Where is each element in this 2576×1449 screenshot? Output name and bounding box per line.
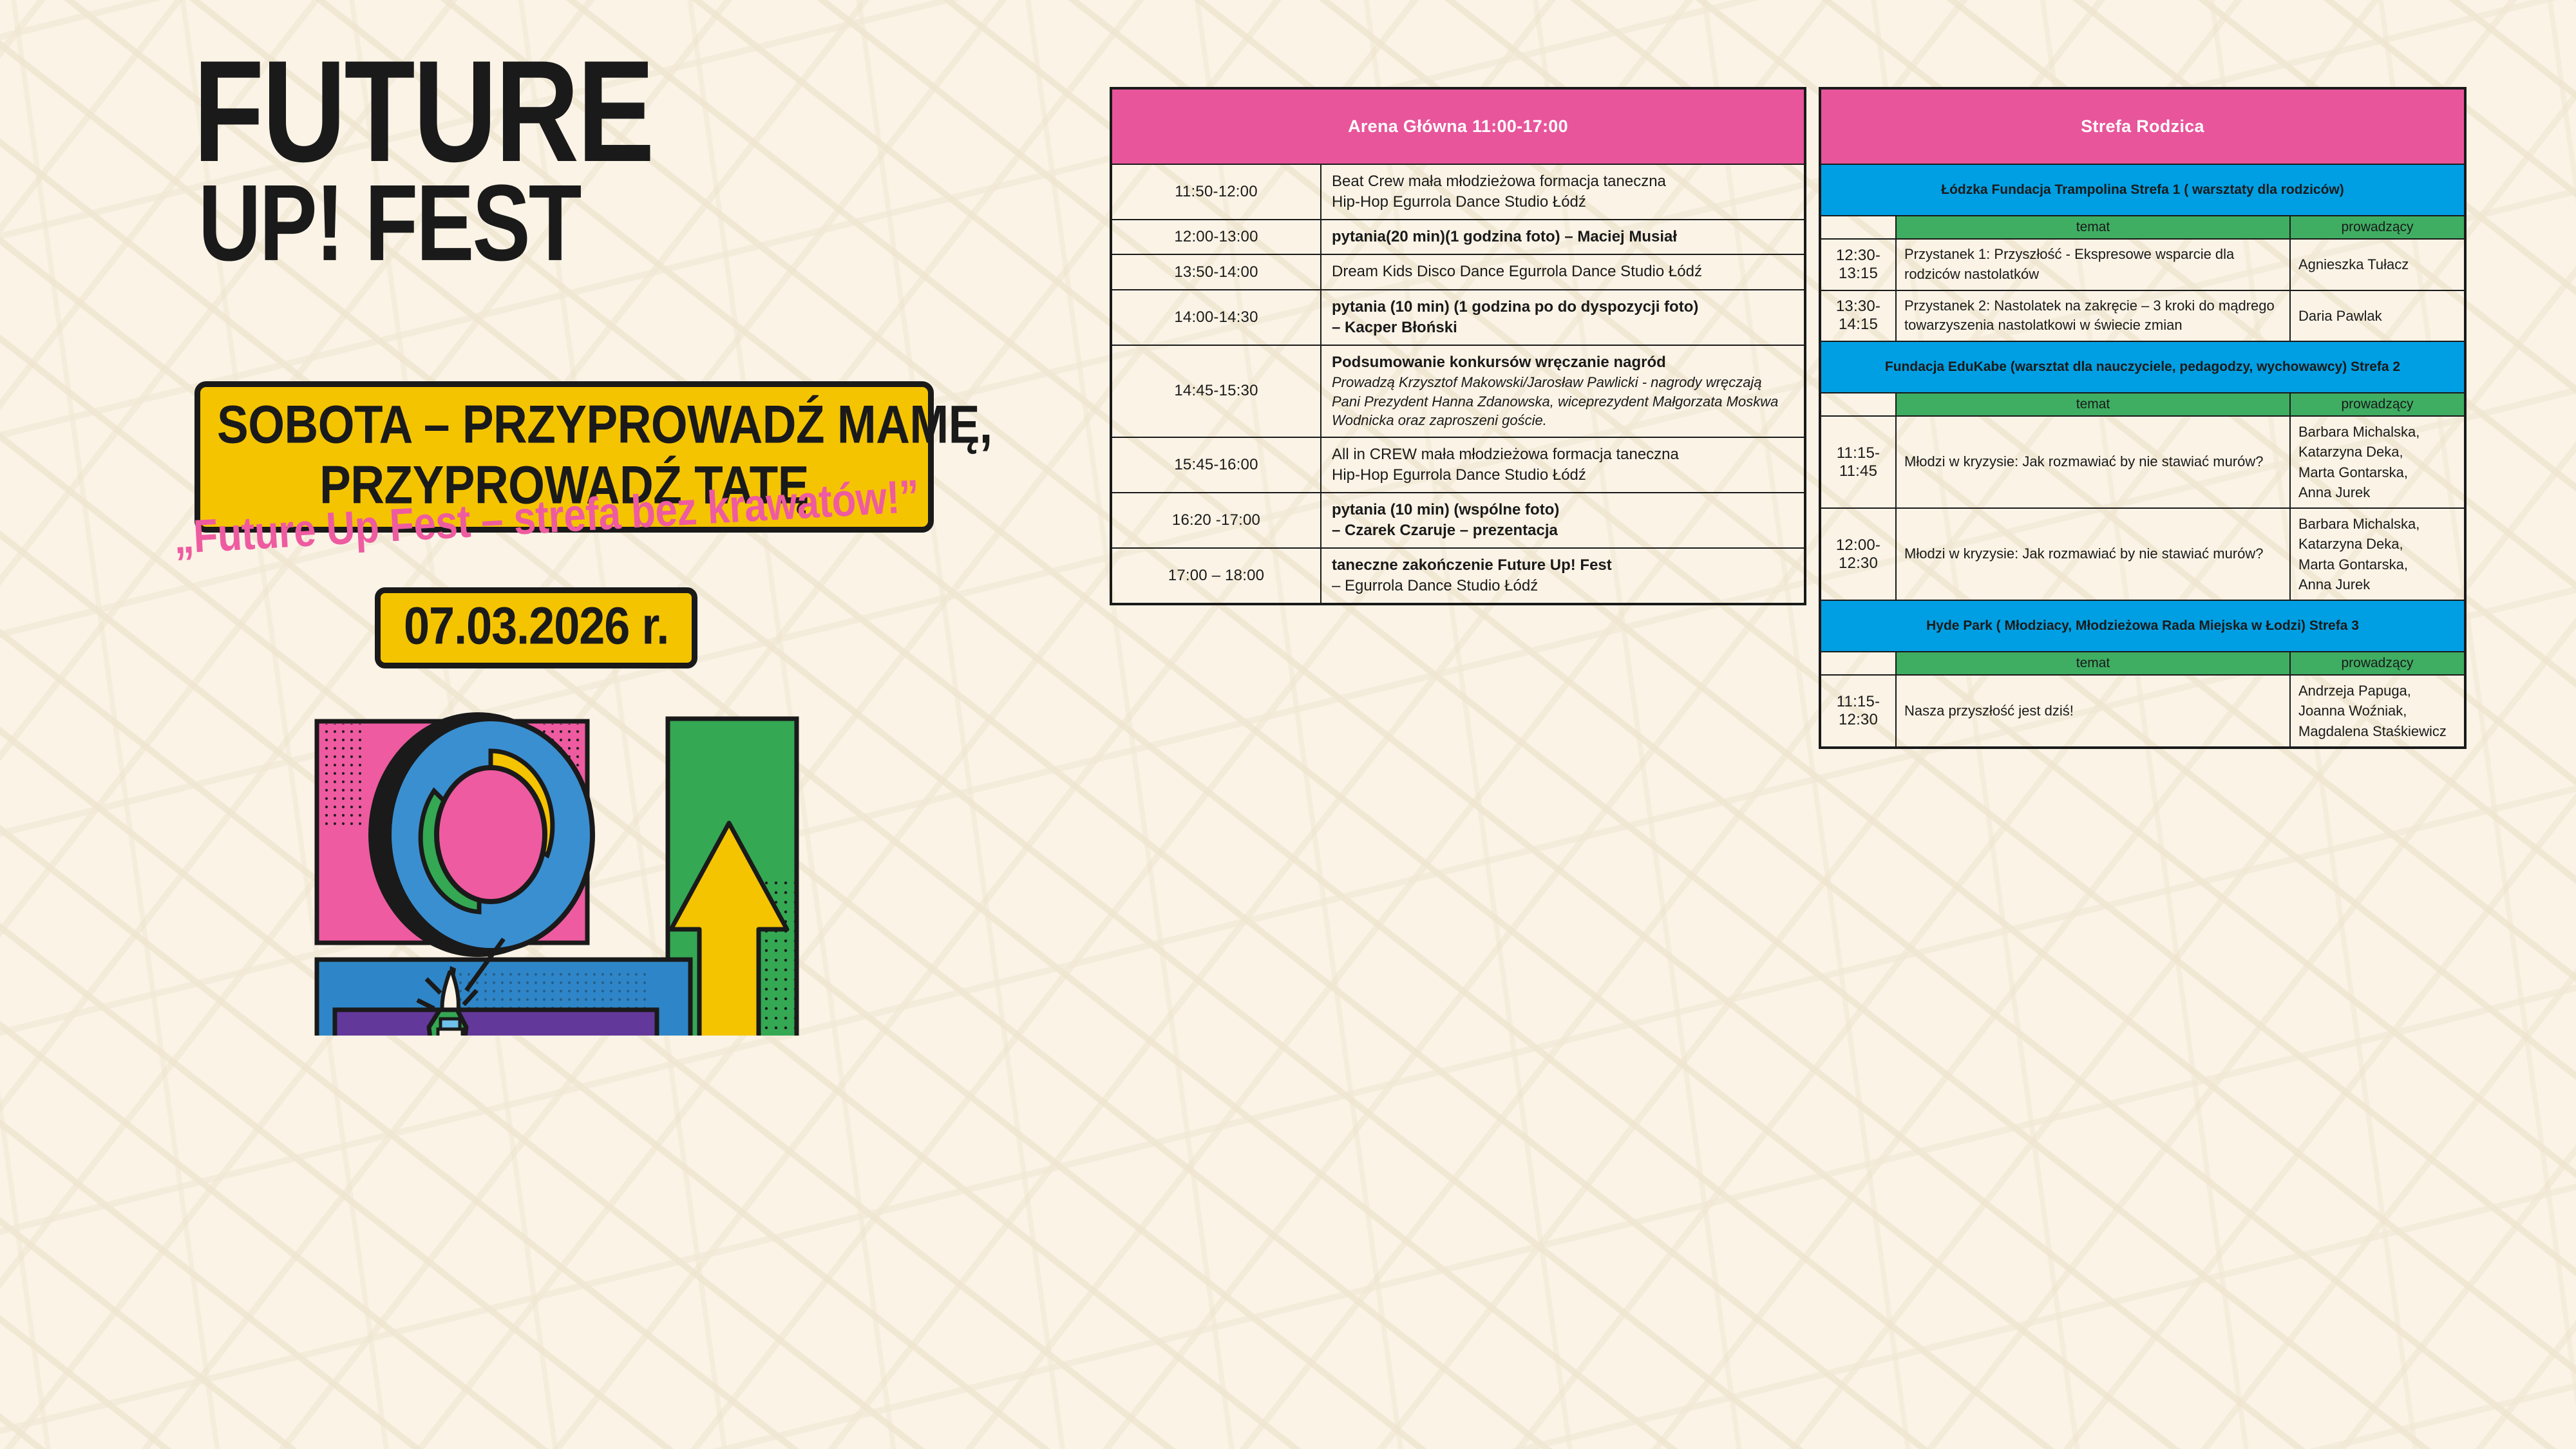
- table-row: 16:20 -17:00 pytania (10 min) (wspólne f…: [1111, 493, 1805, 548]
- arena-header: Arena Główna 11:00-17:00: [1111, 88, 1805, 164]
- table-row: 11:50-12:00 Beat Crew mała młodzieżowa f…: [1111, 164, 1805, 220]
- row-time: 11:15-11:45: [1820, 416, 1896, 508]
- arena-schedule-table: Arena Główna 11:00-17:00 11:50-12:00 Bea…: [1110, 87, 1806, 605]
- table-row: 12:30-13:15 Przystanek 1: Przyszłość - E…: [1820, 239, 2465, 290]
- table-header-row: Arena Główna 11:00-17:00: [1111, 88, 1805, 164]
- row-topic: Przystanek 1: Przyszłość - Ekspresowe ws…: [1896, 239, 2290, 290]
- row-title: taneczne zakończenie Future Up! Fest: [1332, 556, 1612, 574]
- row-time: 14:45-15:30: [1111, 345, 1321, 437]
- row-title: Podsumowanie konkursów wręczanie nagród: [1332, 354, 1666, 371]
- subtitle-line-1: SOBOTA – PRZYPROWADŹ MAMĘ,: [217, 398, 911, 453]
- branding-panel: FUTURE UP! FEST SOBOTA – PRZYPROWADŹ MAM…: [0, 0, 1082, 1449]
- logo-line-upfest: UP! FEST: [193, 178, 938, 269]
- parent-zone-schedule-table: Strefa Rodzica Łódzka Fundacja Trampolin…: [1819, 87, 2467, 749]
- row-time: 13:30-14:15: [1820, 290, 1896, 342]
- row-title: pytania (10 min) (wspólne foto): [1332, 501, 1559, 518]
- row-time: 14:00-14:30: [1111, 290, 1321, 345]
- row-title: pytania(20 min)(1 godzina foto) – Maciej…: [1332, 228, 1677, 245]
- section-title-edukabe: Fundacja EduKabe (warsztat dla nauczycie…: [1820, 341, 2465, 393]
- table-row: 13:50-14:00 Dream Kids Disco Dance Egurr…: [1111, 254, 1805, 289]
- decorative-illustration: [291, 688, 819, 1036]
- row-description: Dream Kids Disco Dance Egurrola Dance St…: [1321, 254, 1805, 289]
- section-header-row: Łódzka Fundacja Trampolina Strefa 1 ( wa…: [1820, 164, 2465, 216]
- row-description: taneczne zakończenie Future Up! Fest – E…: [1321, 548, 1805, 604]
- row-title: pytania (10 min) (1 godzina po do dyspoz…: [1332, 298, 1698, 316]
- row-title: Dream Kids Disco Dance Egurrola Dance St…: [1332, 263, 1702, 280]
- row-host: Andrzeja Papuga,Joanna Woźniak,Magdalena…: [2290, 675, 2465, 748]
- section-title-hydepark: Hyde Park ( Młodziacy, Młodzieżowa Rada …: [1820, 600, 2465, 652]
- row-time: 12:00-12:30: [1820, 508, 1896, 600]
- row-time: 13:50-14:00: [1111, 254, 1321, 289]
- section-header-row: Hyde Park ( Młodziacy, Młodzieżowa Rada …: [1820, 600, 2465, 652]
- section-column-header-row: temat prowadzący: [1820, 216, 2465, 239]
- row-time: 12:30-13:15: [1820, 239, 1896, 290]
- row-host: Daria Pawlak: [2290, 290, 2465, 342]
- row-description: Podsumowanie konkursów wręczanie nagród …: [1321, 345, 1805, 437]
- logo-line-future: FUTURE: [193, 50, 938, 172]
- row-subtitle: – Kacper Błoński: [1332, 319, 1457, 336]
- festival-logo: FUTURE UP! FEST: [193, 50, 953, 252]
- table-row: 14:45-15:30 Podsumowanie konkursów wręcz…: [1111, 345, 1805, 437]
- spacer-cell: [1820, 216, 1896, 239]
- column-header-host: prowadzący: [2290, 652, 2465, 675]
- column-header-host: prowadzący: [2290, 393, 2465, 416]
- row-time: 11:50-12:00: [1111, 164, 1321, 220]
- row-subtitle: – Czarek Czaruje – prezentacja: [1332, 522, 1558, 539]
- row-description: pytania(20 min)(1 godzina foto) – Maciej…: [1321, 220, 1805, 254]
- section-header-row: Fundacja EduKabe (warsztat dla nauczycie…: [1820, 341, 2465, 393]
- row-description: All in CREW mała młodzieżowa formacja ta…: [1321, 437, 1805, 493]
- row-time: 12:00-13:00: [1111, 220, 1321, 254]
- section-title-trampolina: Łódzka Fundacja Trampolina Strefa 1 ( wa…: [1820, 164, 2465, 216]
- row-topic: Młodzi w kryzysie: Jak rozmawiać by nie …: [1896, 416, 2290, 508]
- row-time: 11:15- 12:30: [1820, 675, 1896, 748]
- table-row: 12:00-13:00 pytania(20 min)(1 godzina fo…: [1111, 220, 1805, 254]
- row-description: Beat Crew mała młodzieżowa formacja tane…: [1321, 164, 1805, 220]
- row-time: 16:20 -17:00: [1111, 493, 1321, 548]
- table-row: 15:45-16:00 All in CREW mała młodzieżowa…: [1111, 437, 1805, 493]
- poster-page: FUTURE UP! FEST SOBOTA – PRZYPROWADŹ MAM…: [0, 0, 2576, 1449]
- column-header-topic: temat: [1896, 216, 2290, 239]
- section-column-header-row: temat prowadzący: [1820, 393, 2465, 416]
- table-row: 11:15-11:45 Młodzi w kryzysie: Jak rozma…: [1820, 416, 2465, 508]
- row-host: Barbara Michalska,Katarzyna Deka,Marta G…: [2290, 416, 2465, 508]
- row-topic: Przystanek 2: Nastolatek na zakręcie – 3…: [1896, 290, 2290, 342]
- row-time: 15:45-16:00: [1111, 437, 1321, 493]
- row-host: Agnieszka Tułacz: [2290, 239, 2465, 290]
- date-badge-text: 07.03.2026 r.: [404, 596, 668, 656]
- row-description: pytania (10 min) (wspólne foto) – Czarek…: [1321, 493, 1805, 548]
- table-row: 13:30-14:15 Przystanek 2: Nastolatek na …: [1820, 290, 2465, 342]
- date-badge: 07.03.2026 r.: [375, 587, 697, 668]
- row-topic: Młodzi w kryzysie: Jak rozmawiać by nie …: [1896, 508, 2290, 600]
- table-row: 12:00-12:30 Młodzi w kryzysie: Jak rozma…: [1820, 508, 2465, 600]
- spacer-cell: [1820, 393, 1896, 416]
- row-topic: Nasza przyszłość jest dziś!: [1896, 675, 2290, 748]
- table-header-row: Strefa Rodzica: [1820, 88, 2465, 164]
- illustration-circle-graphic: [368, 712, 592, 957]
- section-column-header-row: temat prowadzący: [1820, 652, 2465, 675]
- row-host: Barbara Michalska,Katarzyna Deka,Marta G…: [2290, 508, 2465, 600]
- table-row: 14:00-14:30 pytania (10 min) (1 godzina …: [1111, 290, 1805, 345]
- spacer-cell: [1820, 652, 1896, 675]
- row-subtitle: – Egurrola Dance Studio Łódź: [1332, 576, 1794, 596]
- column-header-topic: temat: [1896, 393, 2290, 416]
- illustration-blue-panel: [317, 960, 690, 1036]
- row-note: Prowadzą Krzysztof Makowski/Jarosław Paw…: [1332, 373, 1794, 430]
- column-header-host: prowadzący: [2290, 216, 2465, 239]
- column-header-topic: temat: [1896, 652, 2290, 675]
- parent-zone-header: Strefa Rodzica: [1820, 88, 2465, 164]
- table-row: 11:15- 12:30 Nasza przyszłość jest dziś!…: [1820, 675, 2465, 748]
- row-description: pytania (10 min) (1 godzina po do dyspoz…: [1321, 290, 1805, 345]
- table-row: 17:00 – 18:00 taneczne zakończenie Futur…: [1111, 548, 1805, 604]
- row-title: All in CREW mała młodzieżowa formacja ta…: [1332, 446, 1679, 463]
- row-subtitle: Hip-Hop Egurrola Dance Studio Łódź: [1332, 466, 1586, 484]
- row-time: 17:00 – 18:00: [1111, 548, 1321, 604]
- row-subtitle: Hip-Hop Egurrola Dance Studio Łódź: [1332, 193, 1586, 211]
- row-title: Beat Crew mała młodzieżowa formacja tane…: [1332, 173, 1666, 190]
